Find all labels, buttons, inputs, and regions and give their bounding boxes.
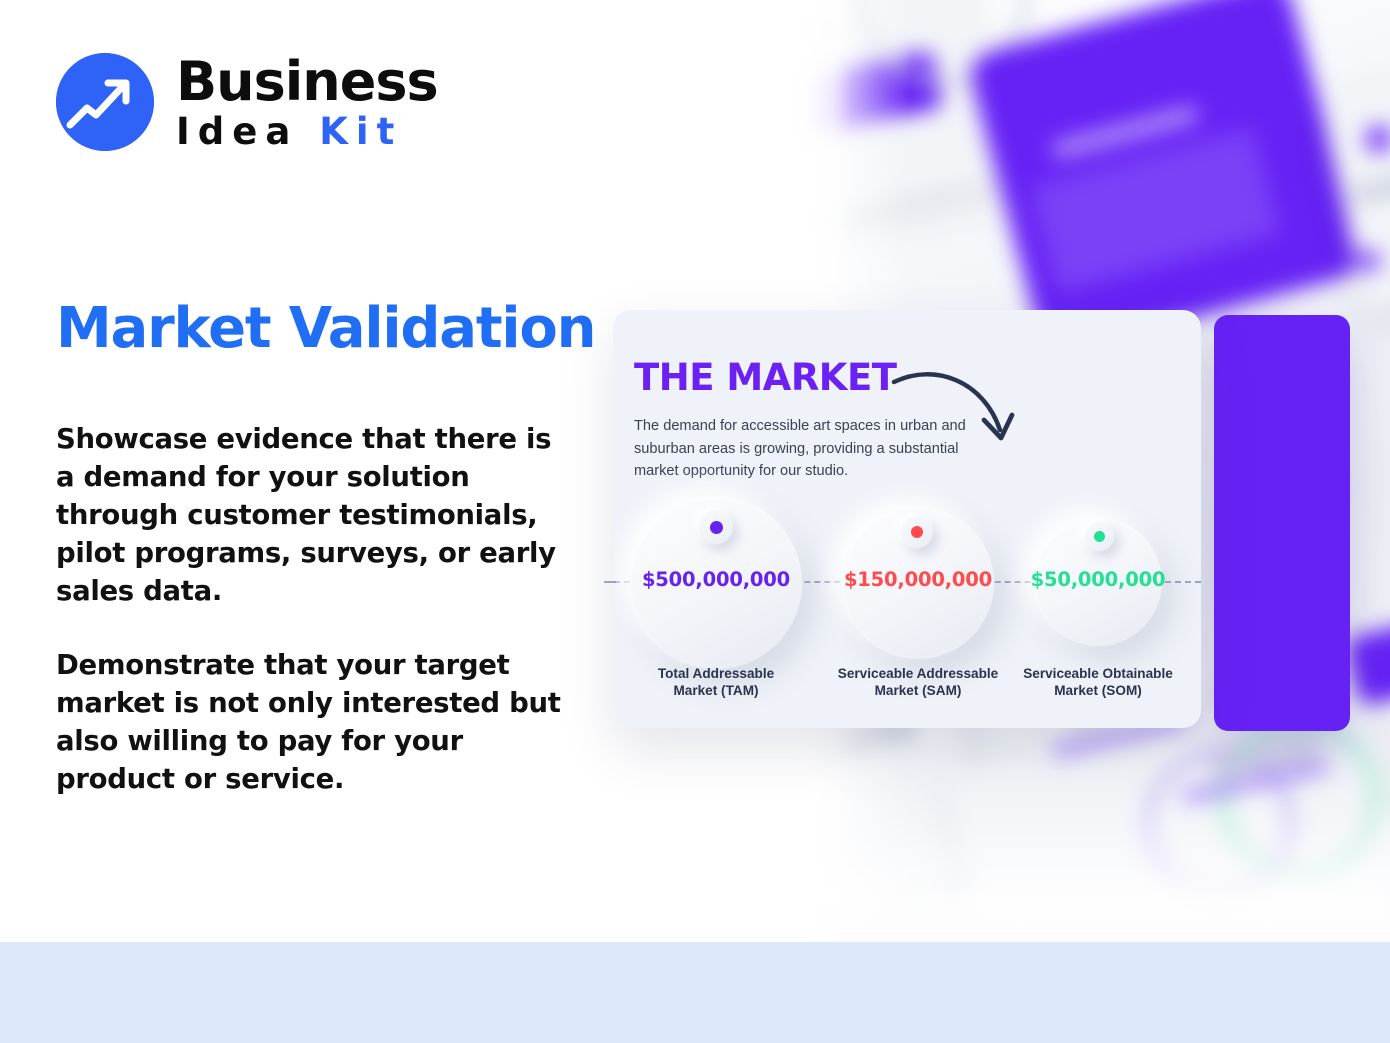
node-label-line-2: Market (SAM) bbox=[823, 682, 1013, 699]
node-knob bbox=[901, 516, 933, 548]
page-title: Market Validation bbox=[56, 296, 595, 361]
body-paragraph-2: Demonstrate that your target market is n… bbox=[56, 646, 568, 798]
node-label-som: Serviceable Obtainable Market (SOM) bbox=[1005, 665, 1191, 699]
market-node-dot-icon bbox=[710, 521, 723, 534]
brand-name-top: Business bbox=[176, 55, 438, 109]
node-knob bbox=[699, 510, 733, 544]
node-label-tam: Total Addressable Market (TAM) bbox=[625, 665, 807, 699]
brand-logo: Business Idea Kit bbox=[56, 53, 438, 151]
purple-accent-panel bbox=[1214, 315, 1350, 731]
node-label-sam: Serviceable Addressable Market (SAM) bbox=[823, 665, 1013, 699]
body-paragraph-1: Showcase evidence that there is a demand… bbox=[56, 420, 568, 610]
node-label-line-2: Market (SOM) bbox=[1005, 682, 1191, 699]
slide-canvas: Business Idea Kit Market Validation Show… bbox=[0, 0, 1390, 1043]
node-knob bbox=[1085, 522, 1114, 551]
brand-name-bottom: Idea Kit bbox=[176, 113, 438, 150]
brand-wordmark: Business Idea Kit bbox=[176, 55, 438, 150]
background-bottom-fade bbox=[790, 800, 1390, 942]
bottom-accent-bar bbox=[0, 942, 1390, 1043]
node-value-tam: $500,000,000 bbox=[630, 568, 802, 591]
node-label-line-2: Market (TAM) bbox=[625, 682, 807, 699]
node-label-line-1: Serviceable Obtainable bbox=[1005, 665, 1191, 682]
brand-name-kit: Kit bbox=[319, 110, 402, 153]
market-nodes: $500,000,000 Total Addressable Market (T… bbox=[613, 310, 1201, 728]
node-label-line-1: Serviceable Addressable bbox=[823, 665, 1013, 682]
node-value-som: $50,000,000 bbox=[1024, 568, 1172, 591]
brand-name-idea: Idea bbox=[176, 110, 298, 153]
growth-chart-circle-icon bbox=[56, 53, 154, 151]
market-card: THE MARKET The demand for accessible art… bbox=[613, 310, 1201, 728]
market-node-dot-icon bbox=[1094, 531, 1105, 542]
market-node-dot-icon bbox=[911, 526, 923, 538]
node-value-sam: $150,000,000 bbox=[838, 568, 998, 591]
node-connector-line-left bbox=[604, 581, 616, 583]
node-label-line-1: Total Addressable bbox=[625, 665, 807, 682]
